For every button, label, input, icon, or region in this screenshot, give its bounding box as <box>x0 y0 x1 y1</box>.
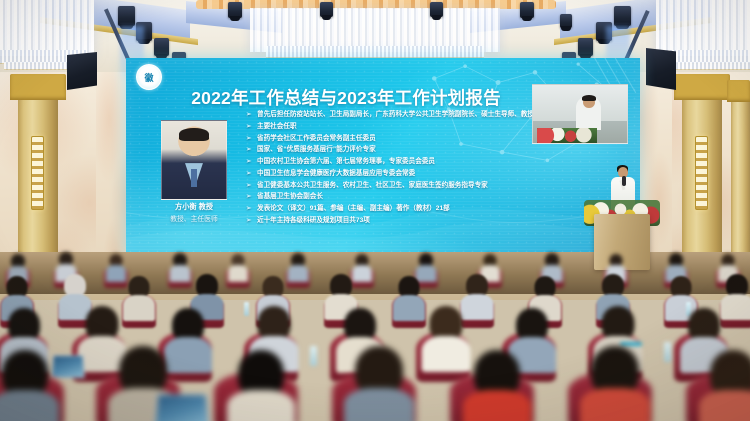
led-presentation-screen[interactable]: 徽 2022年工作总结与2023年工作计划报告 方小衡 教授 教授、主任医师 ➢… <box>126 58 640 256</box>
bullet-text: 中国农村卫生协会第六届、第七届常务理事，专家委员会委员 <box>257 157 614 166</box>
water-bottle <box>244 302 249 316</box>
bullet-text: 国家、省“优质服务基层行”能力评价专家 <box>257 145 614 154</box>
handheld-microphone <box>622 176 626 186</box>
bullet-text: 省基层卫生协会副会长 <box>257 192 614 201</box>
wall-sconce-right <box>695 136 708 210</box>
portrait-title-label: 教授、主任医师 <box>152 213 236 223</box>
conference-hall-scene: 徽 2022年工作总结与2023年工作计划报告 方小衡 教授 教授、主任医师 ➢… <box>0 0 750 421</box>
list-item: ➢ 国家、省“优质服务基层行”能力评价专家 <box>246 145 614 154</box>
bullet-arrow-icon: ➢ <box>246 192 257 201</box>
bullet-arrow-icon: ➢ <box>246 169 257 178</box>
moving-head-light-7 <box>578 38 593 56</box>
list-item: ➢ 近十年主持各级科研及规划项目共73项 <box>246 216 614 225</box>
ceiling-light-12 <box>520 2 534 18</box>
list-item: ➢ 发表论文（译文）91篇、参编（主编、副主编）著作（教材）21部 <box>246 204 614 213</box>
list-item: ➢ 省基层卫生协会副会长 <box>246 192 614 201</box>
portrait-tie <box>191 169 196 186</box>
column-capital-right-2 <box>727 80 750 102</box>
ceiling-light-13 <box>560 14 572 28</box>
list-item: ➢ 中国卫生信息学会健康医疗大数据基层应用专委会常委 <box>246 169 614 178</box>
pip-flower-arrangement <box>537 128 597 143</box>
pa-speaker-left <box>67 52 97 90</box>
list-item: ➢ 中国农村卫生协会第六届、第七届常务理事，专家委员会委员 <box>246 157 614 166</box>
bullet-arrow-icon: ➢ <box>246 216 257 225</box>
chandelier-right <box>656 0 750 56</box>
moving-head-light-1 <box>118 6 135 26</box>
column-capital-left-1 <box>10 74 66 100</box>
chandelier-right-tier-3 <box>674 62 750 70</box>
bullet-arrow-icon: ➢ <box>246 145 257 154</box>
portrait-hair <box>179 128 210 141</box>
pip-speaker-hair <box>582 95 596 101</box>
bullet-arrow-icon: ➢ <box>246 157 257 166</box>
water-bottle <box>664 342 671 362</box>
laptop[interactable] <box>154 394 210 421</box>
ceiling-light-9 <box>228 2 242 18</box>
chandelier-left-tier-3 <box>4 62 76 70</box>
moving-head-light-3 <box>154 38 169 56</box>
speaker-portrait-block: 方小衡 教授 教授、主任医师 <box>152 120 236 223</box>
bullet-text: 省卫健委基本公共卫生服务、农村卫生、社区卫生、家庭医生签约服务指导专家 <box>257 181 614 190</box>
wall-sconce-left <box>31 136 44 210</box>
bullet-arrow-icon: ➢ <box>246 134 257 143</box>
bullet-arrow-icon: ➢ <box>246 204 257 213</box>
list-item: ➢ 省卫健委基本公共卫生服务、农村卫生、社区卫生、家庭医生签约服务指导专家 <box>246 181 614 190</box>
portrait-name-label: 方小衡 教授 <box>152 202 236 212</box>
bullet-arrow-icon: ➢ <box>246 181 257 190</box>
chandelier-left <box>0 0 94 56</box>
column-capital-right-1 <box>674 74 730 100</box>
moving-head-light-5 <box>614 6 631 26</box>
pa-speaker-right <box>646 48 676 90</box>
bullet-arrow-icon: ➢ <box>246 122 257 131</box>
ceiling-light-10 <box>320 2 333 17</box>
bullet-text: 中国卫生信息学会健康医疗大数据基层应用专委会常委 <box>257 169 614 178</box>
institution-seal-logo: 徽 <box>136 64 162 90</box>
laptop[interactable] <box>51 355 85 378</box>
speaker-portrait-photo <box>161 120 227 200</box>
chandelier-center-tier-2 <box>266 46 484 58</box>
water-bottle <box>310 346 317 366</box>
bullet-text: 发表论文（译文）91篇、参编（主编、副主编）著作（教材）21部 <box>257 204 614 213</box>
slide-title: 2022年工作总结与2023年工作计划报告 <box>166 85 526 110</box>
bullet-arrow-icon: ➢ <box>246 110 257 119</box>
bullet-text: 近十年主持各级科研及规划项目共73项 <box>257 216 614 225</box>
audience-area <box>0 246 750 421</box>
ceiling-light-11 <box>430 2 443 17</box>
live-camera-feed[interactable] <box>532 84 628 144</box>
seal-glyph: 徽 <box>144 71 153 84</box>
